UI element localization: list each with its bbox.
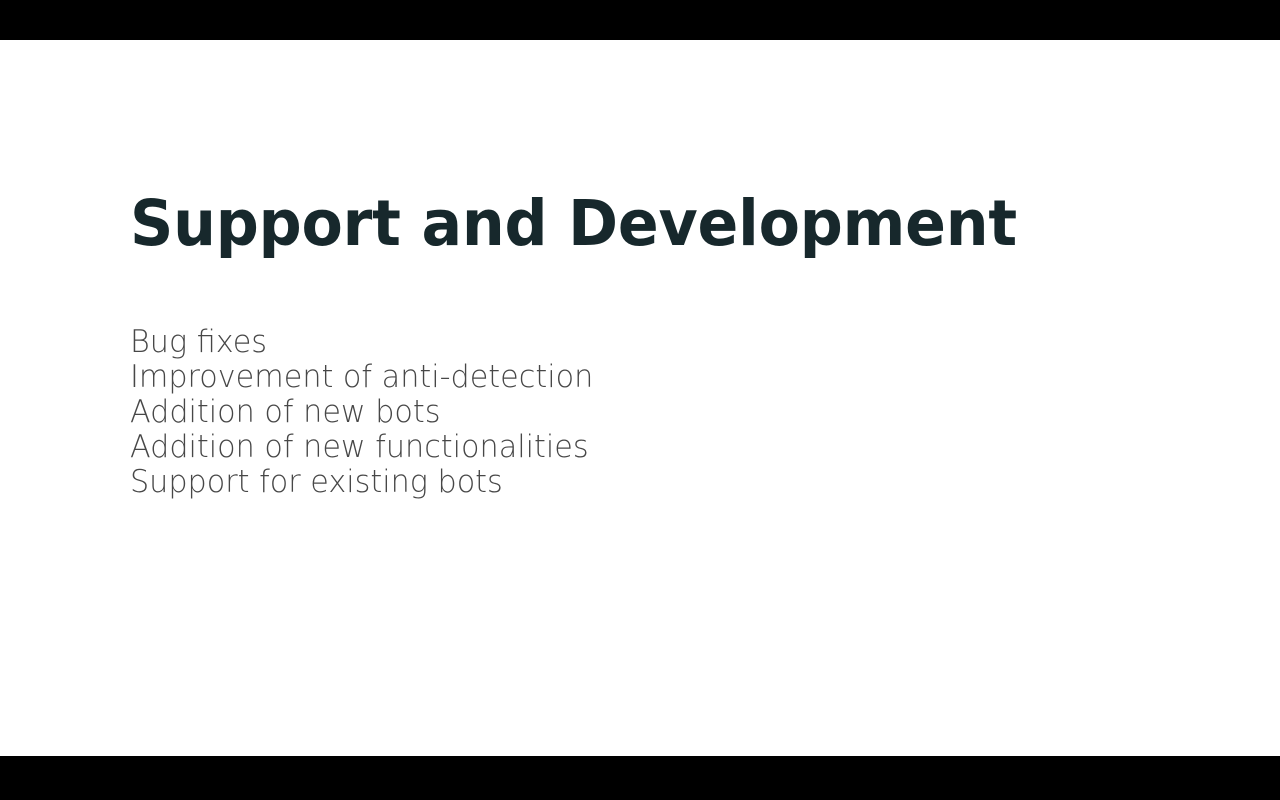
- letterbox-bar-bottom: [0, 756, 1280, 800]
- slide-body-line: Improvement of anti-detection: [130, 360, 593, 395]
- slide-title: Support and Development: [130, 192, 1017, 255]
- slide-body-list: Bug fixes Improvement of anti-detection …: [130, 325, 605, 500]
- slide-body-line: Addition of new functionalities: [130, 430, 593, 465]
- slide-body-line: Addition of new bots: [130, 395, 593, 430]
- slide-body-line: Support for existing bots: [130, 465, 593, 500]
- slide-canvas: Support and Development Bug fixes Improv…: [0, 40, 1280, 756]
- slide-body-line: Bug fixes: [130, 325, 593, 360]
- letterbox-bar-top: [0, 0, 1280, 40]
- slide-viewport: Support and Development Bug fixes Improv…: [0, 0, 1280, 800]
